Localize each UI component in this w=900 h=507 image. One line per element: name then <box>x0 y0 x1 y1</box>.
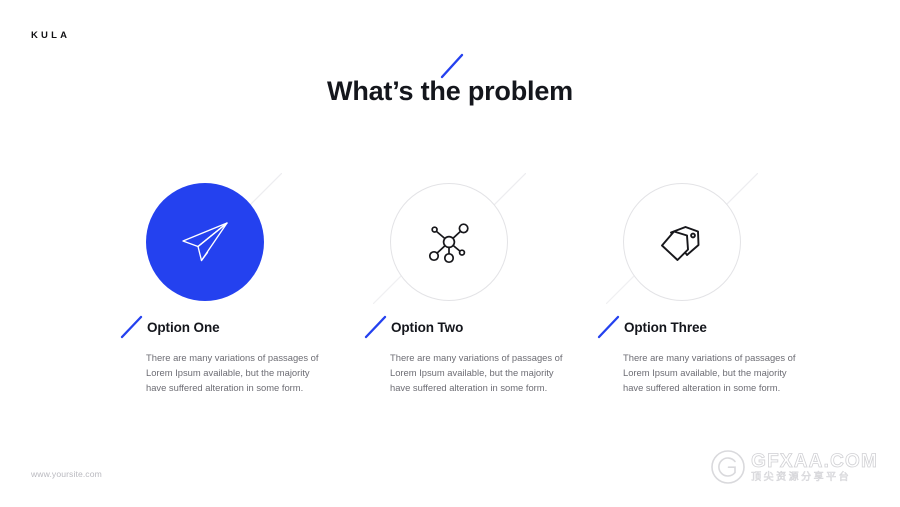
option-card-two[interactable]: Option Two There are many variations of … <box>319 0 579 507</box>
option-one-body: There are many variations of passages of… <box>146 350 321 396</box>
option-one-title: Option One <box>147 320 220 335</box>
option-two-body: There are many variations of passages of… <box>390 350 565 396</box>
option-three-accent-slash <box>597 315 621 339</box>
option-one-heading-row: Option One <box>120 317 220 337</box>
g-circle-icon <box>710 449 746 485</box>
footer-website-url[interactable]: www.yoursite.com <box>31 469 102 479</box>
option-three-icon-circle[interactable] <box>623 183 741 301</box>
watermark-sub-text: 顶尖资源分享平台 <box>751 473 878 483</box>
option-one-icon-circle[interactable] <box>146 183 264 301</box>
option-two-heading-row: Option Two <box>364 317 463 337</box>
option-card-one[interactable]: Option One There are many variations of … <box>75 0 335 507</box>
option-three-heading-row: Option Three <box>597 317 707 337</box>
slide-canvas: KULA What’s the problem <box>0 0 900 507</box>
network-nodes-icon <box>425 218 473 266</box>
watermark-main-text: GFXAA.COM <box>751 452 878 471</box>
option-two-icon-circle[interactable] <box>390 183 508 301</box>
watermark-text: GFXAA.COM 顶尖资源分享平台 <box>751 452 878 483</box>
option-three-title: Option Three <box>624 320 707 335</box>
option-card-three[interactable]: Option Three There are many variations o… <box>552 0 812 507</box>
watermark: GFXAA.COM 顶尖资源分享平台 <box>710 449 878 485</box>
paper-plane-icon <box>178 219 232 265</box>
option-three-body: There are many variations of passages of… <box>623 350 798 396</box>
price-tag-icon <box>657 219 707 265</box>
option-one-accent-slash <box>120 315 144 339</box>
option-two-title: Option Two <box>391 320 463 335</box>
option-two-accent-slash <box>364 315 388 339</box>
brand-logo: KULA <box>31 30 70 41</box>
